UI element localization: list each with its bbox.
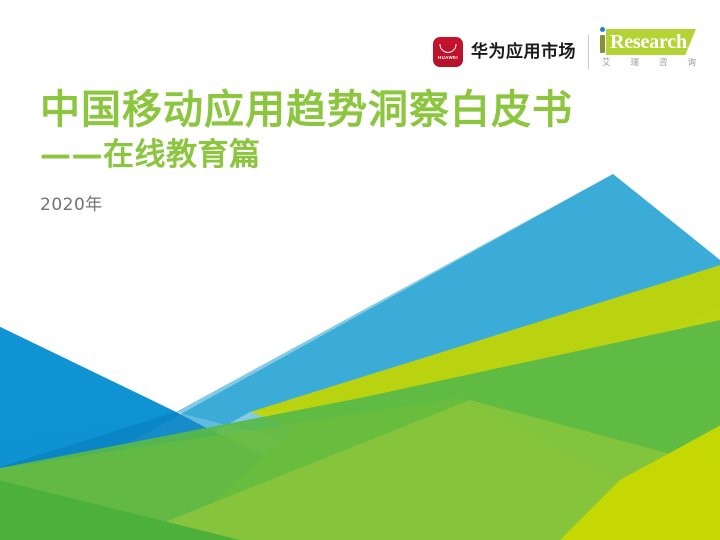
title-block: 中国移动应用趋势洞察白皮书 ——在线教育篇 2020年 [40, 86, 573, 216]
iresearch-sub-char-1: 艾 [602, 59, 611, 68]
iresearch-sub-char-2: 瑞 [630, 59, 639, 68]
iresearch-wordmark-block: Research [600, 27, 696, 57]
iresearch-logo: Research 艾 瑞 咨 询 [600, 27, 696, 77]
logo-divider [588, 35, 589, 69]
appgallery-smile-arc [440, 44, 457, 53]
iresearch-wordmark: Research [610, 30, 687, 54]
iresearch-sub-char-4: 询 [687, 59, 696, 68]
publication-year: 2020年 [40, 194, 573, 216]
huawei-appgallery-logo: HUAWEI 华为应用市场 [433, 32, 576, 72]
iresearch-i-dot-icon [600, 27, 605, 32]
background-art [0, 0, 720, 540]
iresearch-subtitle: 艾 瑞 咨 询 [602, 59, 696, 68]
iresearch-i-stem-icon [600, 35, 605, 53]
page-title: 中国移动应用趋势洞察白皮书 [40, 86, 573, 134]
huawei-wordmark: HUAWEI [433, 56, 463, 60]
huawei-appgallery-icon: HUAWEI [433, 37, 463, 67]
iresearch-sub-char-3: 咨 [659, 59, 668, 68]
title-slide: HUAWEI 华为应用市场 Research 艾 瑞 咨 询 中国移动应用趋势洞… [0, 0, 720, 540]
huawei-appgallery-label: 华为应用市场 [471, 44, 576, 61]
page-subtitle: ——在线教育篇 [40, 134, 573, 176]
logo-row: HUAWEI 华为应用市场 Research 艾 瑞 咨 询 [433, 26, 696, 78]
